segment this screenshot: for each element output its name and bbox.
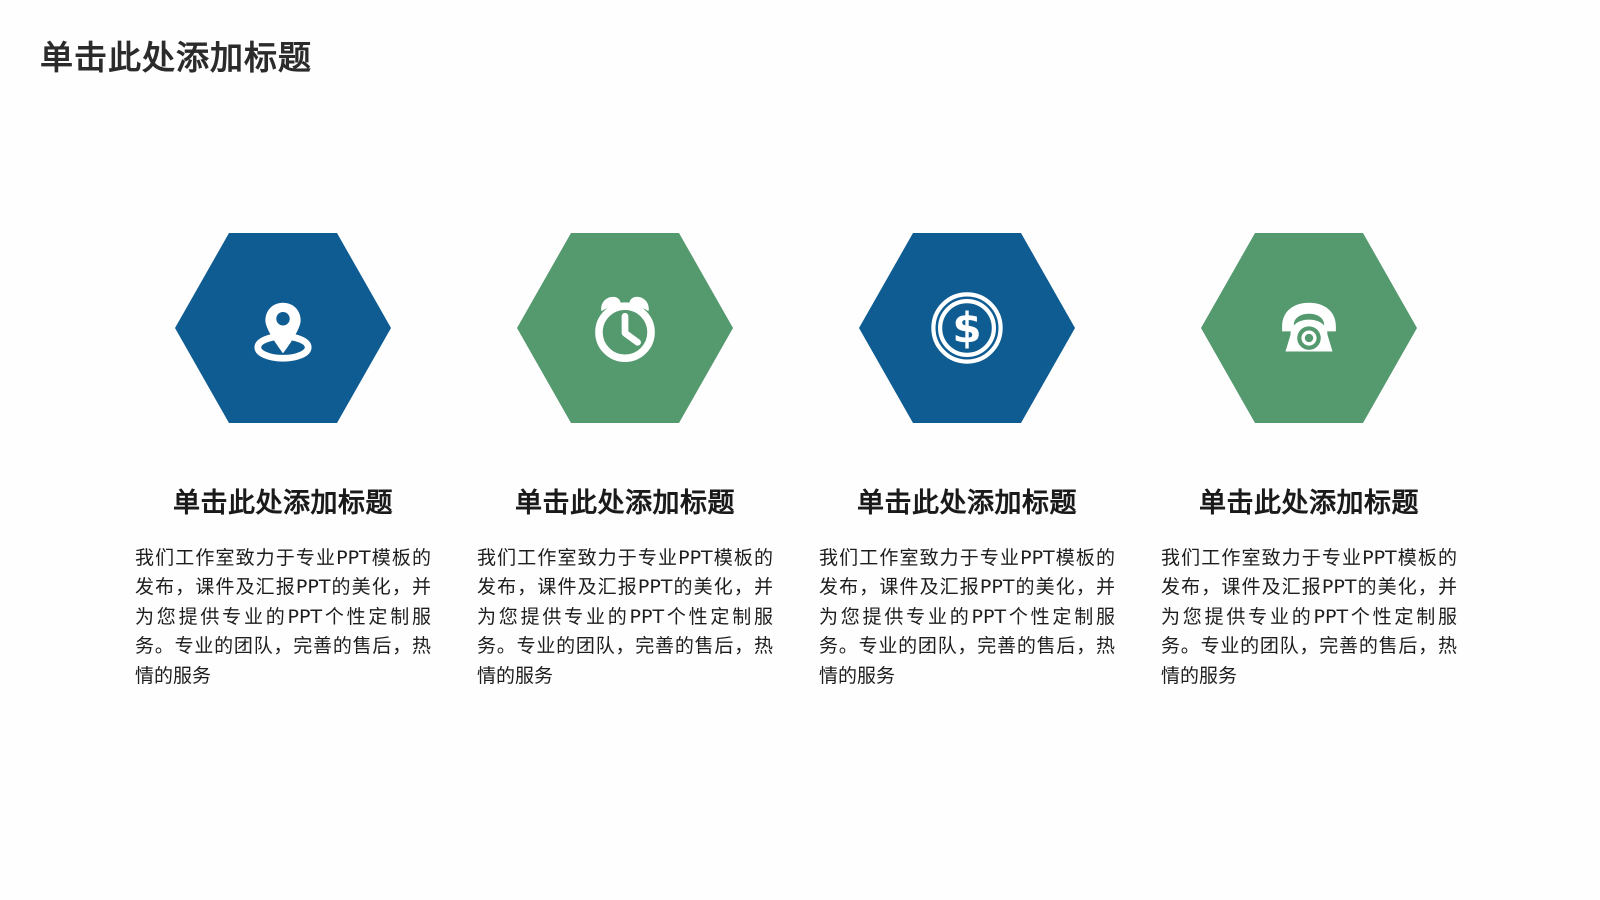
location-pin-icon (241, 286, 325, 370)
hexagon-badge-2[interactable] (517, 233, 733, 423)
alarm-clock-icon (583, 286, 667, 370)
card-heading-3[interactable]: 单击此处添加标题 (857, 481, 1077, 520)
card-body-4[interactable]: 我们工作室致力于专业PPT模板的发布，课件及汇报PPT的美化，并为您提供专业的P… (1161, 544, 1457, 691)
hexagon-badge-4[interactable] (1201, 233, 1417, 423)
card-body-1[interactable]: 我们工作室致力于专业PPT模板的发布，课件及汇报PPT的美化，并为您提供专业的P… (135, 544, 431, 691)
feature-card-1[interactable]: 单击此处添加标题 我们工作室致力于专业PPT模板的发布，课件及汇报PPT的美化，… (118, 233, 448, 691)
card-heading-2[interactable]: 单击此处添加标题 (515, 481, 735, 520)
feature-card-2[interactable]: 单击此处添加标题 我们工作室致力于专业PPT模板的发布，课件及汇报PPT的美化，… (460, 233, 790, 691)
card-body-2[interactable]: 我们工作室致力于专业PPT模板的发布，课件及汇报PPT的美化，并为您提供专业的P… (477, 544, 773, 691)
telephone-icon (1267, 286, 1351, 370)
page-title[interactable]: 单击此处添加标题 (40, 38, 312, 78)
feature-card-4[interactable]: 单击此处添加标题 我们工作室致力于专业PPT模板的发布，课件及汇报PPT的美化，… (1144, 233, 1474, 691)
dollar-coin-icon: $ (925, 286, 1009, 370)
card-body-3[interactable]: 我们工作室致力于专业PPT模板的发布，课件及汇报PPT的美化，并为您提供专业的P… (819, 544, 1115, 691)
slide-canvas: 单击此处添加标题 单击此处添加标题 我们工作室致力于专业PPT模板的发布，课件及… (0, 0, 1600, 900)
hexagon-badge-3[interactable]: $ (859, 233, 1075, 423)
card-heading-4[interactable]: 单击此处添加标题 (1199, 481, 1419, 520)
hexagon-badge-1[interactable] (175, 233, 391, 423)
card-heading-1[interactable]: 单击此处添加标题 (173, 481, 393, 520)
feature-card-3[interactable]: $ 单击此处添加标题 我们工作室致力于专业PPT模板的发布，课件及汇报PPT的美… (802, 233, 1132, 691)
svg-text:$: $ (952, 304, 981, 353)
card-row: 单击此处添加标题 我们工作室致力于专业PPT模板的发布，课件及汇报PPT的美化，… (0, 233, 1600, 691)
